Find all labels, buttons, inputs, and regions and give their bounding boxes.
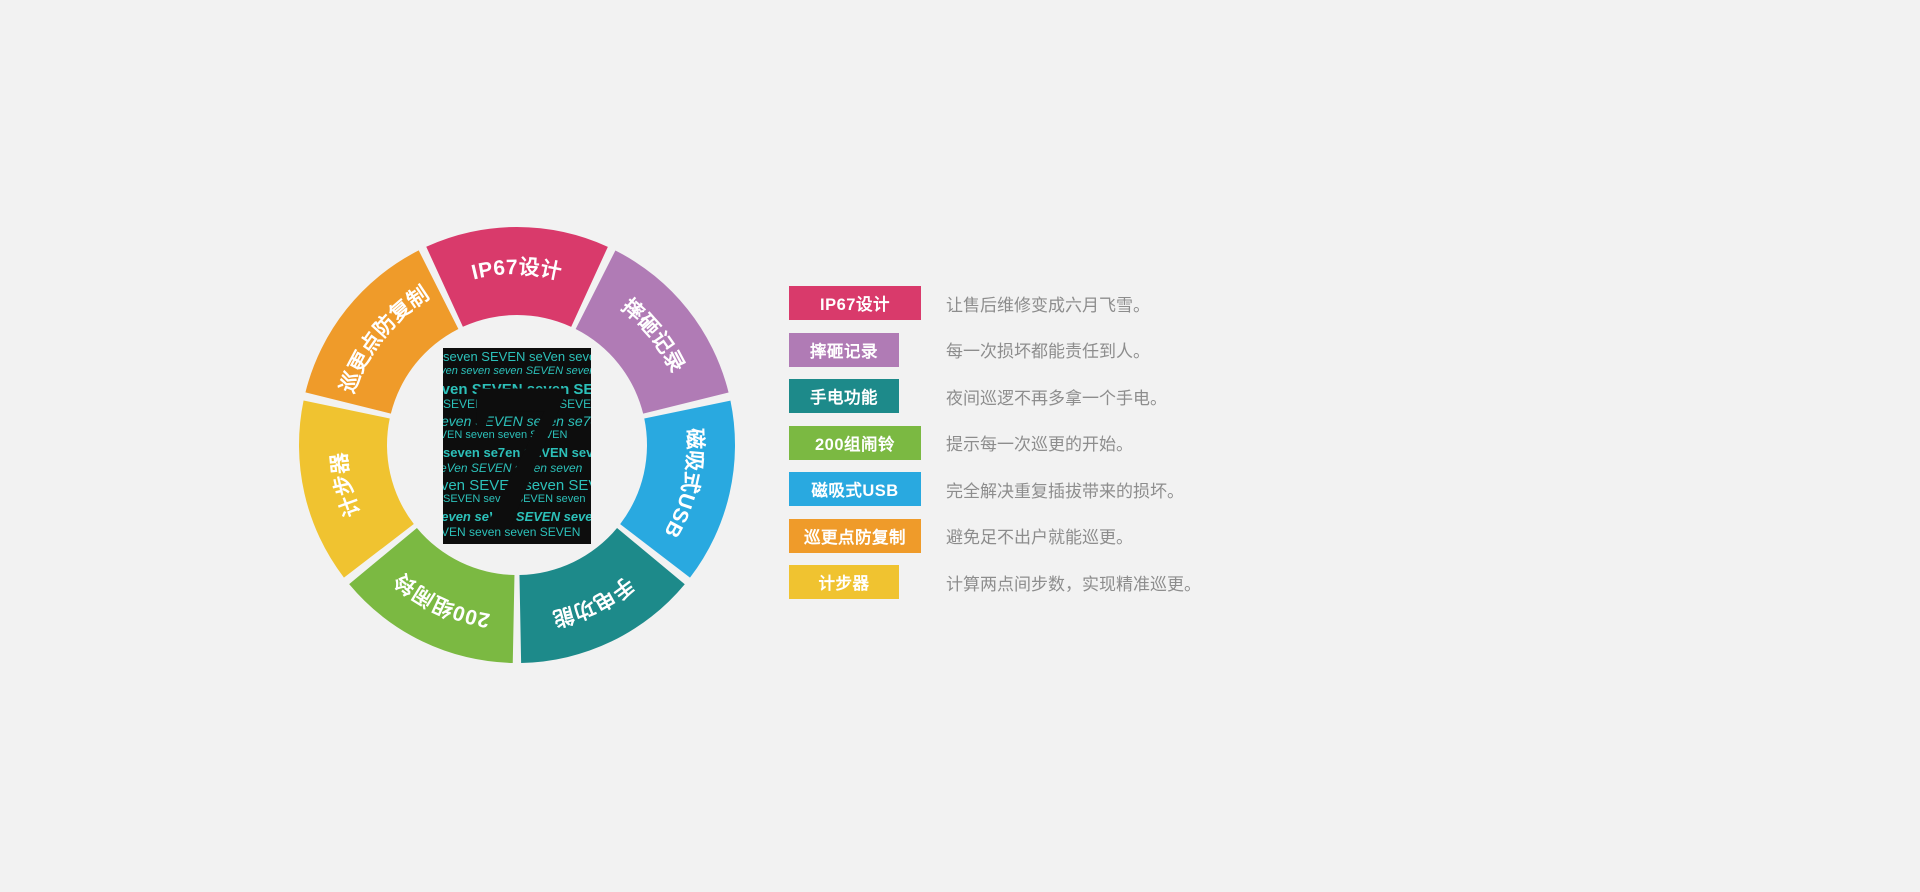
seven-word-row: SEVEN seven seven SEVEN — [443, 526, 580, 538]
legend-description-5: 完全解决重复插拔带来的损坏。 — [946, 477, 1184, 502]
seven-word-row: seven SEVEN seVen seven — [443, 350, 591, 363]
seven-word-row: seven SEVEN seven SEVEN — [443, 382, 591, 397]
legend-row[interactable]: 手电功能夜间巡逻不再多拿一个手电。 — [789, 379, 1549, 413]
legend-chip-cell: 摔砸记录 — [789, 333, 946, 367]
seven-word-row: seven SEVEN seven SEVEN — [443, 478, 591, 493]
legend-description-4: 提示每一次巡更的开始。 — [946, 430, 1133, 455]
legend-chip-5[interactable]: 磁吸式USB — [789, 472, 921, 506]
infographic-stage: IP67设计摔砸记录磁吸式USB手电功能200组闹铃计步器巡更点防复制 seve… — [0, 0, 1920, 892]
seven-word-row: seVen SEVEN seven seven — [443, 462, 582, 474]
legend-chip-cell: 手电功能 — [789, 379, 946, 413]
legend-chip-cell: 计步器 — [789, 565, 946, 599]
seven-word-row: even seven seven SEVEN seven SEVEN — [443, 366, 591, 377]
legend-chip-cell: 磁吸式USB — [789, 472, 946, 506]
legend-list: IP67设计让售后维修变成六月飞雪。摔砸记录每一次损坏都能责任到人。手电功能夜间… — [789, 286, 1549, 612]
legend-chip-7[interactable]: 计步器 — [789, 565, 899, 599]
legend-chip-cell: 200组闹铃 — [789, 426, 946, 460]
legend-row[interactable]: 摔砸记录每一次损坏都能责任到人。 — [789, 333, 1549, 367]
seven-word-row: SEVEN seven SEVEN seven — [443, 494, 585, 505]
legend-row[interactable]: 磁吸式USB完全解决重复插拔带来的损坏。 — [789, 472, 1549, 506]
center-seven-artwork: seven SEVEN seVen seveneven seven seven … — [443, 348, 591, 544]
legend-description-3: 夜间巡逻不再多拿一个手电。 — [946, 384, 1167, 409]
legend-chip-2[interactable]: 摔砸记录 — [789, 333, 899, 367]
legend-description-6: 避免足不出户就能巡更。 — [946, 523, 1133, 548]
legend-description-1: 让售后维修变成六月飞雪。 — [946, 291, 1150, 316]
legend-row[interactable]: 巡更点防复制避免足不出户就能巡更。 — [789, 519, 1549, 553]
legend-chip-3[interactable]: 手电功能 — [789, 379, 899, 413]
seven-word-row: SEVEN seven seven SEVEN — [443, 430, 567, 441]
legend-row[interactable]: 200组闹铃提示每一次巡更的开始。 — [789, 426, 1549, 460]
legend-description-2: 每一次损坏都能责任到人。 — [946, 337, 1150, 362]
legend-chip-1[interactable]: IP67设计 — [789, 286, 921, 320]
legend-chip-4[interactable]: 200组闹铃 — [789, 426, 921, 460]
seven-word-row: seven se7en SEVEN seven — [443, 446, 591, 459]
seven-word-row: seven seVen SEVEN seven — [443, 510, 591, 523]
legend-chip-cell: IP67设计 — [789, 286, 946, 320]
seven-word-row: SEVEN seven seVen SEVEN se — [443, 398, 591, 410]
legend-description-7: 计算两点间步数，实现精准巡更。 — [946, 570, 1201, 595]
legend-chip-cell: 巡更点防复制 — [789, 519, 946, 553]
legend-chip-6[interactable]: 巡更点防复制 — [789, 519, 921, 553]
seven-word-row: seven SEVEN seven se7en — [443, 414, 591, 428]
legend-row[interactable]: IP67设计让售后维修变成六月飞雪。 — [789, 286, 1549, 320]
legend-row[interactable]: 计步器计算两点间步数，实现精准巡更。 — [789, 565, 1549, 599]
